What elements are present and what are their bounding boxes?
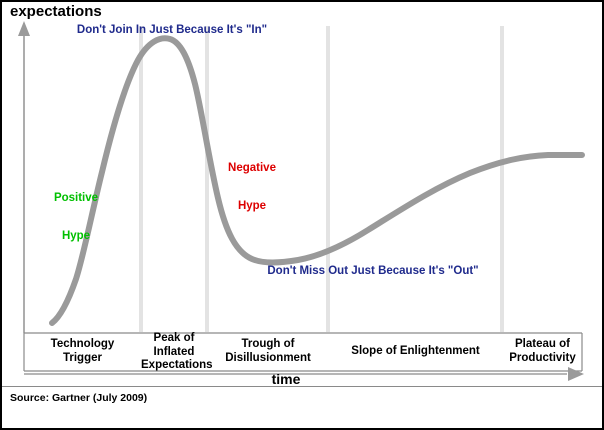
- y-axis: [18, 21, 30, 333]
- phase-trough-line1: Trough of: [208, 338, 328, 352]
- y-axis-title: expectations: [10, 4, 102, 21]
- phase-label-trough-of-disillusionment: Trough of Disillusionment: [208, 338, 328, 365]
- phase-technology-trigger-line2: Trigger: [26, 352, 139, 366]
- hype-cycle-figure: expectations time Don't Join In Just Bec…: [0, 0, 604, 430]
- phase-peak-line1: Peak of: [141, 332, 207, 346]
- annotation-positive-hype: Positive Hype: [38, 166, 114, 269]
- phase-peak-line2: Inflated: [141, 346, 207, 360]
- phase-slope-line1: Slope of Enlightenment: [329, 345, 502, 359]
- phase-plateau-line2: Productivity: [503, 352, 582, 366]
- annotation-dont-join-in: Don't Join In Just Because It's "In": [58, 24, 286, 37]
- annotation-positive-hype-line2: Hype: [38, 230, 114, 243]
- annotation-negative-hype-line1: Negative: [210, 162, 294, 175]
- chart-stage: expectations time Don't Join In Just Bec…: [2, 2, 602, 428]
- phase-peak-line3: Expectations: [141, 359, 207, 373]
- phase-trough-line2: Disillusionment: [208, 352, 328, 366]
- annotation-negative-hype-line2: Hype: [210, 200, 294, 213]
- footer-divider: [2, 386, 602, 387]
- phase-label-peak-of-inflated-expectations: Peak of Inflated Expectations: [141, 332, 207, 373]
- source-note: Source: Gartner (July 2009): [10, 392, 147, 404]
- phase-label-plateau-of-productivity: Plateau of Productivity: [503, 338, 582, 365]
- phase-plateau-line1: Plateau of: [503, 338, 582, 352]
- phase-label-technology-trigger: Technology Trigger: [26, 338, 139, 365]
- phase-label-slope-of-enlightenment: Slope of Enlightenment: [329, 345, 502, 359]
- annotation-negative-hype: Negative Hype: [210, 136, 294, 239]
- annotation-dont-miss-out: Don't Miss Out Just Because It's "Out": [244, 265, 502, 278]
- phase-technology-trigger-line1: Technology: [26, 338, 139, 352]
- phase-dividers: [141, 26, 502, 332]
- annotation-positive-hype-line1: Positive: [38, 192, 114, 205]
